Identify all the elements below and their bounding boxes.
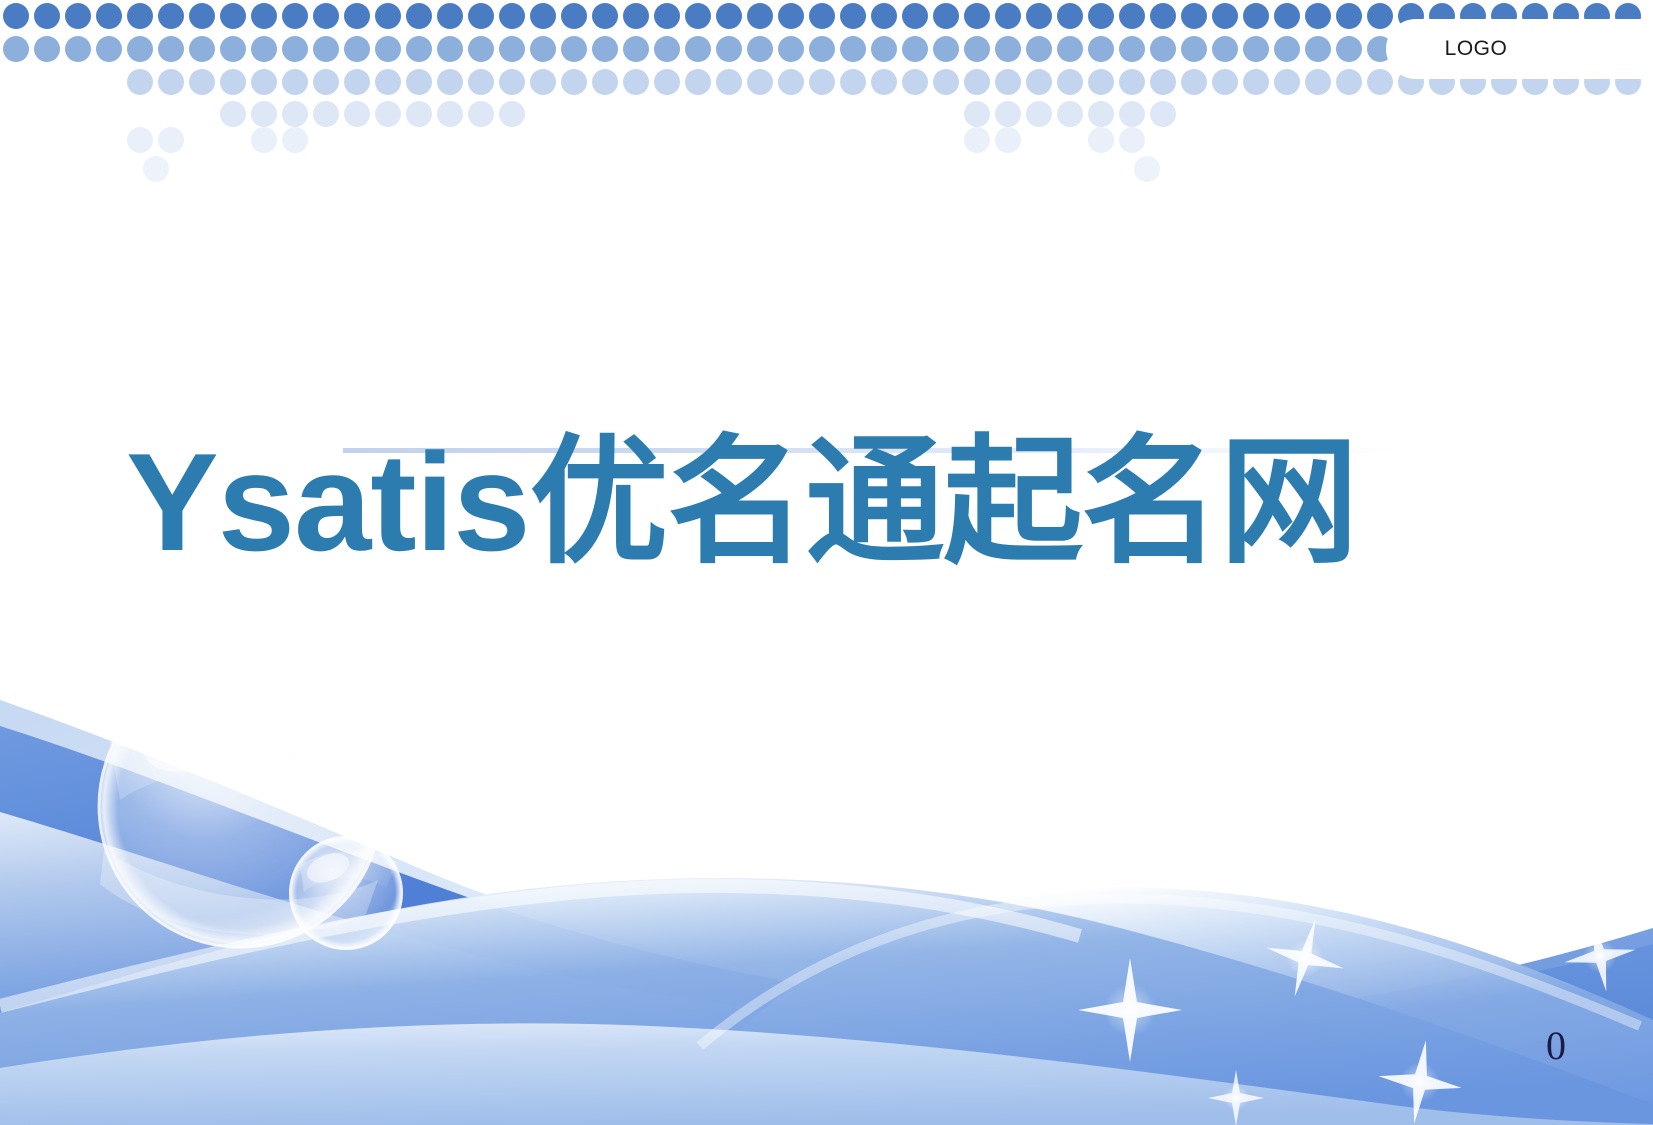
logo-placeholder-text: LOGO — [1386, 19, 1566, 79]
page-number: 0 — [1536, 1022, 1576, 1069]
bubble-small — [289, 836, 403, 950]
page-title: Ysatis优名通起名网 — [126, 425, 1526, 581]
slide-canvas: LOGO Ysatis优名通起名网 0 — [0, 0, 1653, 1125]
